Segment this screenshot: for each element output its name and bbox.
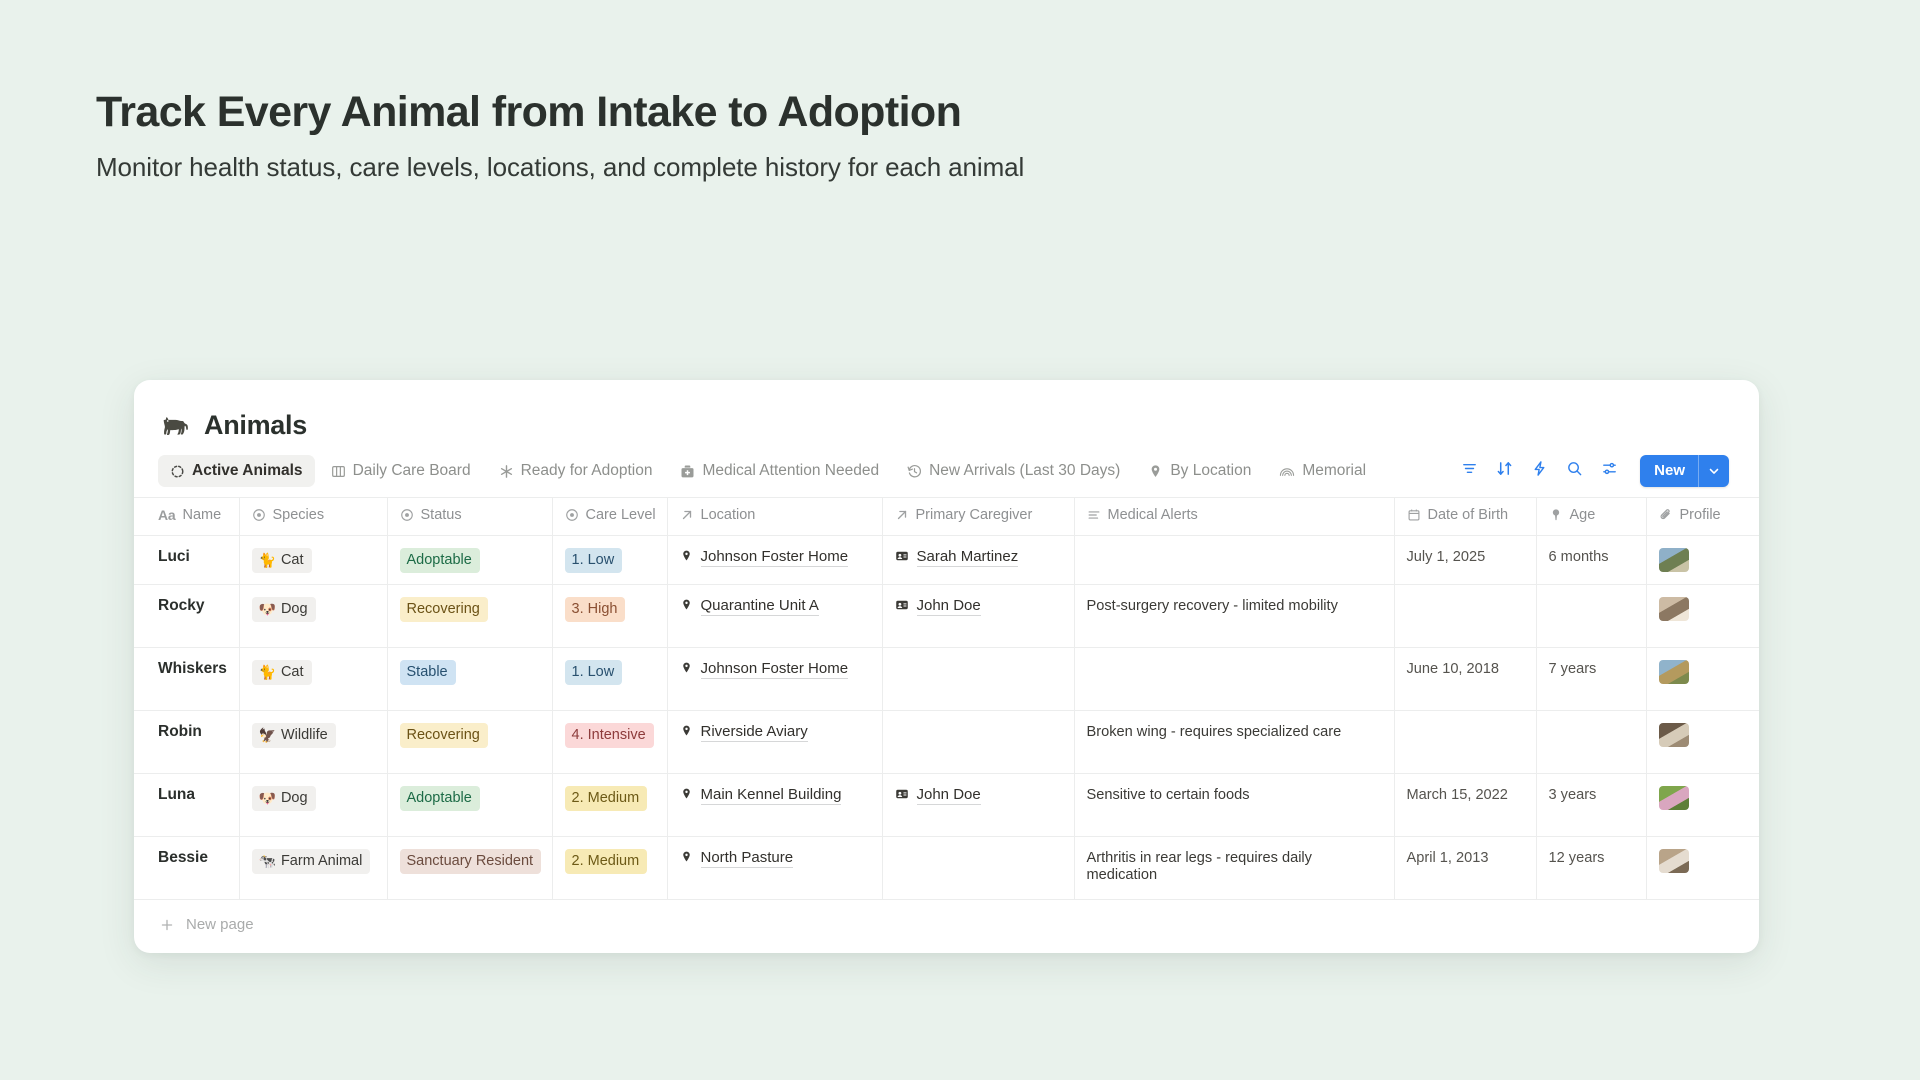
status-badge: Sanctuary Resident [400, 849, 542, 874]
new-page-row[interactable]: New page [134, 900, 1759, 953]
cell-species[interactable]: 🐶Dog [239, 585, 387, 648]
map-pin-icon [1148, 464, 1163, 479]
card-title: Animals [204, 410, 307, 441]
species-chip: 🦅Wildlife [252, 723, 336, 748]
cell-status[interactable]: Sanctuary Resident [387, 837, 552, 900]
cell-primary-caregiver[interactable]: Sarah Martinez [882, 536, 1074, 585]
cell-date-of-birth[interactable]: April 1, 2013 [1394, 837, 1536, 900]
contact-card-icon [895, 787, 909, 805]
caregiver-link[interactable]: John Doe [917, 597, 981, 616]
care-level-badge: 1. Low [565, 548, 623, 573]
column-label: Date of Birth [1428, 507, 1509, 523]
cell-status[interactable]: Recovering [387, 711, 552, 774]
species-emoji-icon: 🦅 [259, 728, 276, 742]
column-header-date-of-birth[interactable]: Date of Birth [1394, 498, 1536, 536]
cell-primary-caregiver[interactable] [882, 711, 1074, 774]
map-pin-icon [680, 549, 693, 567]
cell-status[interactable]: Adoptable [387, 774, 552, 837]
cell-name[interactable]: Whiskers [134, 648, 239, 711]
tab-by-location[interactable]: By Location [1136, 455, 1263, 487]
cell-medical-alerts[interactable]: Broken wing - requires specialized care [1074, 711, 1394, 774]
species-emoji-icon: 🐄 [259, 854, 276, 868]
species-chip: 🐄Farm Animal [252, 849, 371, 874]
first-aid-kit-icon [680, 464, 695, 479]
column-header-primary-caregiver[interactable]: Primary Caregiver [882, 498, 1074, 536]
tab-label: By Location [1170, 462, 1251, 480]
cell-medical-alerts[interactable] [1074, 648, 1394, 711]
view-tab-bar: Active Animals Daily Care Board Ready fo… [134, 441, 1759, 487]
tab-medical-attention-needed[interactable]: Medical Attention Needed [668, 455, 891, 487]
cell-profile[interactable] [1646, 585, 1759, 648]
column-header-location[interactable]: Location [667, 498, 882, 536]
cell-age[interactable]: 12 years [1536, 837, 1646, 900]
column-label: Location [701, 507, 756, 523]
column-label: Age [1570, 507, 1596, 523]
text-lines-icon [1087, 508, 1101, 522]
cell-care-level[interactable]: 1. Low [552, 648, 667, 711]
column-label: Care Level [586, 507, 656, 523]
care-level-badge: 2. Medium [565, 849, 648, 874]
column-header-age[interactable]: Age [1536, 498, 1646, 536]
cell-date-of-birth[interactable]: June 10, 2018 [1394, 648, 1536, 711]
cell-date-of-birth[interactable] [1394, 711, 1536, 774]
animals-database-card: Animals Active Animals Daily Care Board [134, 380, 1759, 953]
status-badge: Recovering [400, 597, 488, 622]
location-link[interactable]: North Pasture [701, 849, 794, 868]
cell-name[interactable]: Rocky [134, 585, 239, 648]
cell-profile[interactable] [1646, 711, 1759, 774]
cell-location[interactable]: Riverside Aviary [667, 711, 882, 774]
select-circle-icon [565, 508, 579, 522]
table-row[interactable]: Robin🦅WildlifeRecovering4. IntensiveRive… [134, 711, 1759, 774]
cell-date-of-birth[interactable]: March 15, 2022 [1394, 774, 1536, 837]
cell-species[interactable]: 🐈Cat [239, 536, 387, 585]
cell-location[interactable]: North Pasture [667, 837, 882, 900]
status-badge: Recovering [400, 723, 488, 748]
cell-location[interactable]: Main Kennel Building [667, 774, 882, 837]
location-link[interactable]: Johnson Foster Home [701, 660, 849, 679]
cell-medical-alerts[interactable]: Post-surgery recovery - limited mobility [1074, 585, 1394, 648]
column-header-profile[interactable]: Profile [1646, 498, 1759, 536]
cell-primary-caregiver[interactable] [882, 648, 1074, 711]
cell-profile[interactable] [1646, 648, 1759, 711]
clock-rewind-icon [907, 464, 922, 479]
dog-closeup-photo[interactable] [1659, 597, 1689, 621]
column-header-medical-alerts[interactable]: Medical Alerts [1074, 498, 1394, 536]
table-row[interactable]: Whiskers🐈CatStable1. LowJohnson Foster H… [134, 648, 1759, 711]
tab-label: Ready for Adoption [521, 462, 653, 480]
map-pin-icon [680, 850, 693, 868]
column-header-species[interactable]: Species [239, 498, 387, 536]
search-icon[interactable] [1566, 460, 1583, 482]
status-badge: Adoptable [400, 548, 480, 573]
table-header-row: Aa Name Species Status Care Level Locati… [134, 498, 1759, 536]
dashed-circle-icon [170, 464, 185, 479]
cell-date-of-birth[interactable] [1394, 585, 1536, 648]
species-emoji-icon: 🐶 [259, 602, 276, 616]
cell-date-of-birth[interactable]: July 1, 2025 [1394, 536, 1536, 585]
relation-arrow-icon [680, 508, 694, 522]
species-emoji-icon: 🐈 [259, 553, 276, 567]
cell-species[interactable]: 🐄Farm Animal [239, 837, 387, 900]
view-toolbar: New [1461, 455, 1735, 487]
cell-age[interactable] [1536, 711, 1646, 774]
calendar-icon [1407, 508, 1421, 522]
care-level-badge: 4. Intensive [565, 723, 654, 748]
caregiver-link[interactable]: John Doe [917, 786, 981, 805]
column-label: Name [183, 507, 222, 523]
tab-label: Memorial [1302, 462, 1366, 480]
column-label: Profile [1680, 507, 1721, 523]
cell-species[interactable]: 🐶Dog [239, 774, 387, 837]
formula-icon [1549, 508, 1563, 522]
map-pin-icon [680, 787, 693, 805]
dog-in-garden-photo[interactable] [1659, 786, 1689, 810]
contact-card-icon [895, 598, 909, 616]
cell-medical-alerts[interactable]: Arthritis in rear legs - requires daily … [1074, 837, 1394, 900]
rainbow-icon [1279, 464, 1295, 479]
cell-medical-alerts[interactable]: Sensitive to certain foods [1074, 774, 1394, 837]
cell-name[interactable]: Robin [134, 711, 239, 774]
dog-icon [162, 411, 192, 441]
new-page-label: New page [186, 916, 254, 933]
cell-species[interactable]: 🐈Cat [239, 648, 387, 711]
column-label: Medical Alerts [1108, 507, 1198, 523]
page-subtitle: Monitor health status, care levels, loca… [96, 152, 1920, 183]
cell-care-level[interactable]: 2. Medium [552, 837, 667, 900]
sparkle-asterisk-icon [499, 464, 514, 479]
cell-medical-alerts[interactable] [1074, 536, 1394, 585]
cat-in-meadow-photo[interactable] [1659, 660, 1689, 684]
cell-status[interactable]: Stable [387, 648, 552, 711]
tab-label: New Arrivals (Last 30 Days) [929, 462, 1120, 480]
species-emoji-icon: 🐈 [259, 665, 276, 679]
status-badge: Adoptable [400, 786, 480, 811]
table-row[interactable]: Luci🐈CatAdoptable1. LowJohnson Foster Ho… [134, 536, 1759, 585]
view-tabs: Active Animals Daily Care Board Ready fo… [158, 455, 1461, 487]
column-label: Status [421, 507, 462, 523]
location-link[interactable]: Quarantine Unit A [701, 597, 819, 616]
map-pin-icon [680, 724, 693, 742]
care-level-badge: 3. High [565, 597, 626, 622]
cell-primary-caregiver[interactable]: John Doe [882, 774, 1074, 837]
cell-name[interactable]: Bessie [134, 837, 239, 900]
chevron-down-icon[interactable] [1699, 455, 1729, 487]
map-pin-icon [680, 598, 693, 616]
tab-label: Medical Attention Needed [702, 462, 879, 480]
cell-location[interactable]: Johnson Foster Home [667, 648, 882, 711]
animals-table: Aa Name Species Status Care Level Locati… [134, 497, 1759, 900]
new-button[interactable]: New [1640, 455, 1729, 487]
table-row[interactable]: Rocky🐶DogRecovering3. HighQuarantine Uni… [134, 585, 1759, 648]
location-link[interactable]: Johnson Foster Home [701, 548, 849, 567]
location-link[interactable]: Main Kennel Building [701, 786, 842, 805]
cell-care-level[interactable]: 2. Medium [552, 774, 667, 837]
new-button-label: New [1640, 455, 1698, 487]
tab-daily-care-board[interactable]: Daily Care Board [319, 455, 483, 487]
column-header-care-level[interactable]: Care Level [552, 498, 667, 536]
tab-ready-for-adoption[interactable]: Ready for Adoption [487, 455, 665, 487]
table-row[interactable]: Luna🐶DogAdoptable2. MediumMain Kennel Bu… [134, 774, 1759, 837]
tab-new-arrivals[interactable]: New Arrivals (Last 30 Days) [895, 455, 1132, 487]
caregiver-link[interactable]: Sarah Martinez [917, 548, 1019, 567]
cell-age[interactable] [1536, 585, 1646, 648]
cell-location[interactable]: Johnson Foster Home [667, 536, 882, 585]
text-aa-icon: Aa [158, 508, 176, 522]
care-level-badge: 1. Low [565, 660, 623, 685]
map-pin-icon [680, 661, 693, 679]
contact-card-icon [895, 549, 909, 567]
select-circle-icon [252, 508, 266, 522]
bird-on-hand-photo[interactable] [1659, 723, 1689, 747]
cell-primary-caregiver[interactable]: John Doe [882, 585, 1074, 648]
database-card-wrapper: Animals Active Animals Daily Care Board [134, 380, 1759, 953]
select-circle-icon [400, 508, 414, 522]
cell-care-level[interactable]: 3. High [552, 585, 667, 648]
species-chip: 🐶Dog [252, 597, 316, 622]
cell-primary-caregiver[interactable] [882, 837, 1074, 900]
cell-profile[interactable] [1646, 774, 1759, 837]
table-body: Luci🐈CatAdoptable1. LowJohnson Foster Ho… [134, 536, 1759, 900]
cell-name[interactable]: Luci [134, 536, 239, 585]
relation-arrow-icon [895, 508, 909, 522]
sort-icon[interactable] [1496, 460, 1513, 482]
location-link[interactable]: Riverside Aviary [701, 723, 808, 742]
filter-icon[interactable] [1461, 460, 1478, 482]
tab-memorial[interactable]: Memorial [1267, 455, 1378, 487]
hero-section: Track Every Animal from Intake to Adopti… [0, 0, 1920, 183]
table-row[interactable]: Bessie🐄Farm AnimalSanctuary Resident2. M… [134, 837, 1759, 900]
plus-icon [160, 918, 174, 932]
cell-status[interactable]: Adoptable [387, 536, 552, 585]
care-level-badge: 2. Medium [565, 786, 648, 811]
column-label: Primary Caregiver [916, 507, 1033, 523]
board-columns-icon [331, 464, 346, 479]
cell-profile[interactable] [1646, 536, 1759, 585]
cell-care-level[interactable]: 4. Intensive [552, 711, 667, 774]
species-chip: 🐶Dog [252, 786, 316, 811]
cell-care-level[interactable]: 1. Low [552, 536, 667, 585]
cell-age[interactable]: 6 months [1536, 536, 1646, 585]
column-header-name[interactable]: Aa Name [134, 498, 239, 536]
tab-label: Active Animals [192, 462, 303, 480]
automation-lightning-icon[interactable] [1531, 460, 1548, 482]
species-chip: 🐈Cat [252, 660, 312, 685]
cell-age[interactable]: 7 years [1536, 648, 1646, 711]
page-title: Track Every Animal from Intake to Adopti… [96, 88, 1920, 136]
cat-in-field-photo[interactable] [1659, 548, 1689, 572]
species-chip: 🐈Cat [252, 548, 312, 573]
attachment-clip-icon [1659, 508, 1673, 522]
view-settings-icon[interactable] [1601, 460, 1618, 482]
card-header: Animals [134, 406, 1759, 441]
cell-age[interactable]: 3 years [1536, 774, 1646, 837]
cell-status[interactable]: Recovering [387, 585, 552, 648]
tab-label: Daily Care Board [353, 462, 471, 480]
status-badge: Stable [400, 660, 456, 685]
column-label: Species [273, 507, 325, 523]
cow-photo[interactable] [1659, 849, 1689, 873]
column-header-status[interactable]: Status [387, 498, 552, 536]
cell-species[interactable]: 🦅Wildlife [239, 711, 387, 774]
species-emoji-icon: 🐶 [259, 791, 276, 805]
tab-active-animals[interactable]: Active Animals [158, 455, 315, 487]
cell-name[interactable]: Luna [134, 774, 239, 837]
cell-profile[interactable] [1646, 837, 1759, 900]
cell-location[interactable]: Quarantine Unit A [667, 585, 882, 648]
